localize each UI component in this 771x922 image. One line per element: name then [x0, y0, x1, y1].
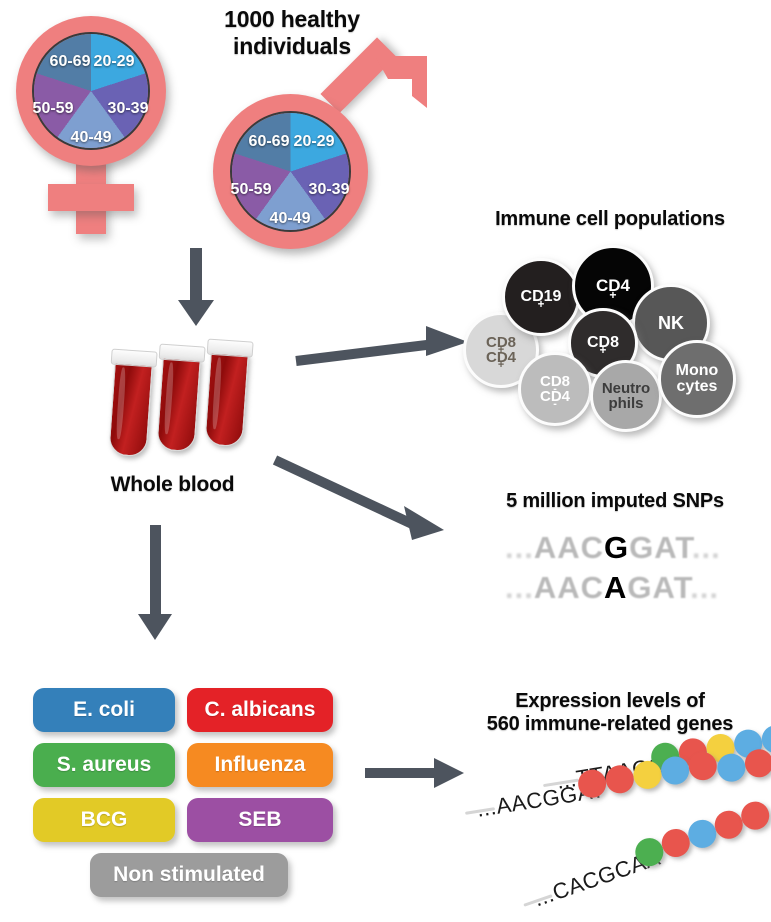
cell-label-line: phils	[602, 396, 650, 411]
stimulation-label: Non stimulated	[113, 863, 265, 887]
strand-bead	[743, 747, 771, 779]
strand-bead	[715, 752, 747, 784]
stimulation-bcg[interactable]: BCG	[33, 798, 175, 842]
cell-label-line: Mono	[676, 363, 719, 379]
expression-strand: ...CACGCAA	[530, 809, 767, 916]
snp-prefix: ...	[505, 570, 534, 605]
male-symbol: 20-29 30-39 40-49 50-59 60-69	[205, 60, 420, 255]
pie-label-male-20-29: 20-29	[294, 133, 335, 151]
tube-lip	[207, 339, 254, 358]
stimulation-label: C. albicans	[205, 698, 316, 722]
pie-label-20-29: 20-29	[94, 53, 135, 71]
stimulation-label: E. coli	[73, 698, 135, 722]
stimulation-ecoli[interactable]: E. coli	[33, 688, 175, 732]
snp-right: GAT	[627, 570, 690, 605]
tube-blood	[108, 361, 152, 457]
cell-label: CD8+	[587, 335, 619, 351]
snp-suffix: ...	[690, 570, 719, 605]
snp-prefix: ...	[505, 530, 534, 565]
cell-label-line: CD4+	[486, 350, 516, 365]
expression-title-line1: Expression levels of	[455, 690, 765, 713]
figure-canvas: 1000 healthy individuals 20-29 30-39 40-…	[0, 0, 771, 922]
tube-lip	[159, 344, 206, 363]
snp-variant: G	[604, 530, 629, 565]
stimulation-label: BCG	[81, 808, 128, 832]
stimulation-saureus[interactable]: S. aureus	[33, 743, 175, 787]
cell-monocytes: Mono cytes	[658, 340, 736, 418]
female-stem-cross	[48, 184, 134, 211]
stimulation-label: S. aureus	[57, 753, 152, 777]
immune-cell-cluster: CD8+ CD4+ CD19+ CD4+ NK CD8+ CD8- CD4-	[460, 240, 760, 420]
tube-blood	[156, 356, 200, 452]
stimulation-non-stimulated[interactable]: Non stimulated	[90, 853, 288, 897]
pie-label-male-30-39: 30-39	[309, 181, 350, 199]
snp-right: GAT	[629, 530, 692, 565]
snp-variant: A	[604, 570, 627, 605]
cell-label: CD19+	[521, 289, 562, 305]
cell-neutrophils: Neutro phils	[590, 360, 662, 432]
snp-left: AAC	[534, 570, 604, 605]
cell-cd8neg-cd4neg: CD8- CD4-	[518, 352, 592, 426]
blood-tube	[156, 344, 201, 452]
cell-cd19pos: CD19+	[502, 258, 580, 336]
stimulation-label: SEB	[238, 808, 281, 832]
cell-label: CD4+	[596, 277, 630, 294]
tube-blood	[204, 351, 248, 447]
male-arrow-head-icon	[355, 52, 431, 132]
immune-cell-title: Immune cell populations	[455, 208, 765, 231]
cell-label-line: CD8+	[486, 335, 516, 350]
snps-title: 5 million imputed SNPs	[470, 490, 760, 513]
whole-blood-label: Whole blood	[80, 473, 265, 497]
pie-label-30-39: 30-39	[108, 100, 149, 118]
cell-label: NK	[658, 314, 684, 332]
blood-tube	[108, 349, 153, 457]
blood-tube	[204, 339, 249, 447]
pie-label-male-40-49: 40-49	[270, 210, 311, 228]
stimulation-label: Influenza	[214, 753, 305, 777]
pie-label-40-49: 40-49	[71, 129, 112, 147]
cell-label-line: CD8-	[540, 374, 570, 389]
snp-suffix: ...	[692, 530, 721, 565]
cell-label-line: CD4-	[540, 389, 570, 404]
pie-label-50-59: 50-59	[33, 100, 74, 118]
expression-title: Expression levels of 560 immune-related …	[455, 690, 765, 736]
expression-title-line2: 560 immune-related genes	[455, 713, 765, 736]
stimulation-influenza[interactable]: Influenza	[187, 743, 333, 787]
female-symbol: 20-29 30-39 40-49 50-59 60-69	[8, 14, 188, 229]
blood-tubes	[110, 338, 290, 458]
cell-label-line: cytes	[676, 379, 719, 395]
tube-lip	[111, 349, 158, 368]
cohort-heading-line1: 1000 healthy	[172, 6, 412, 33]
pie-label-male-60-69: 60-69	[249, 133, 290, 151]
cell-label-line: Neutro	[602, 381, 650, 396]
stimulation-seb[interactable]: SEB	[187, 798, 333, 842]
pie-label-male-50-59: 50-59	[231, 181, 272, 199]
stimulation-calbicans[interactable]: C. albicans	[187, 688, 333, 732]
snp-left: AAC	[534, 530, 604, 565]
snp-sequence-row: ...AACGGAT...	[505, 530, 721, 566]
pie-label-60-69: 60-69	[50, 53, 91, 71]
snp-sequence-row: ...AACAGAT...	[505, 570, 719, 606]
